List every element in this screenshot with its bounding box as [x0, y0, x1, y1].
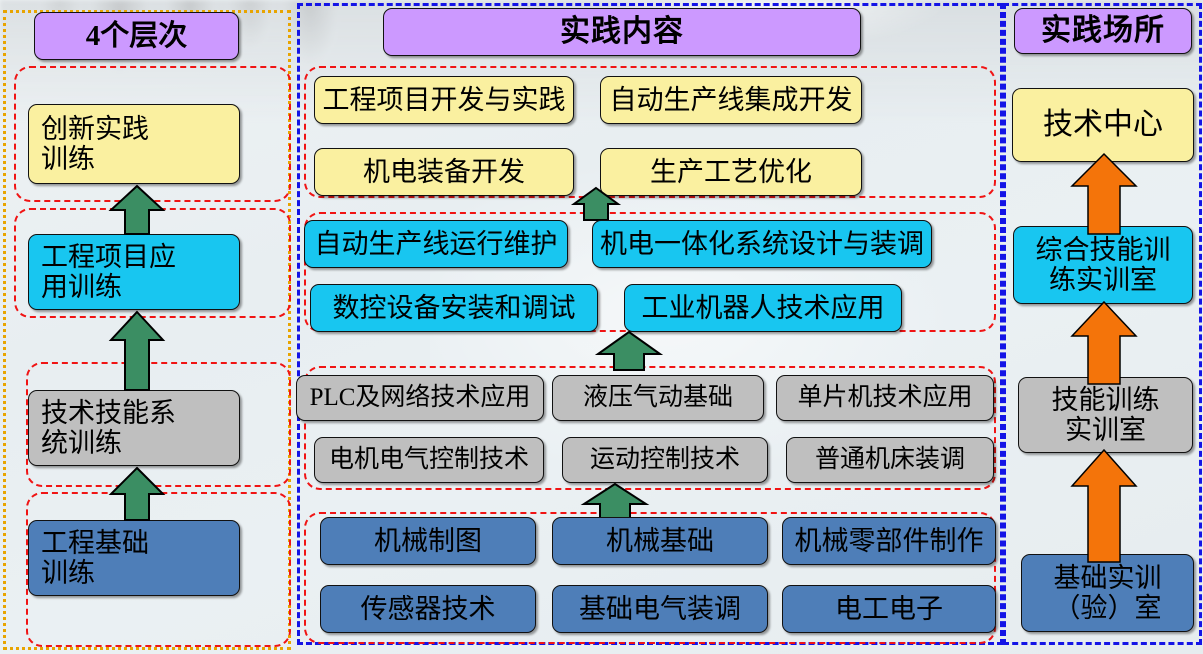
mid-item-yellow-3[interactable]: 机电装备开发	[314, 148, 574, 196]
mid-item-yellow-2[interactable]: 自动生产线集成开发	[600, 76, 862, 124]
mid-item-yellow-1[interactable]: 工程项目开发与实践	[314, 76, 574, 124]
venue-box-3[interactable]: 技能训练 实训室	[1018, 377, 1193, 453]
mid-item-gray-1[interactable]: PLC及网络技术应用	[296, 375, 544, 421]
right-panel-header: 实践场所	[1014, 8, 1192, 54]
venue-box-4[interactable]: 基础实训 （验）室	[1021, 554, 1194, 632]
mid-item-cyan-4[interactable]: 工业机器人技术应用	[624, 284, 902, 332]
mid-item-gray-3[interactable]: 单片机技术应用	[776, 375, 994, 421]
mid-item-blue-5[interactable]: 基础电气装调	[552, 585, 768, 633]
left-arrow-up-3	[107, 466, 167, 522]
mid-item-blue-2[interactable]: 机械基础	[552, 517, 768, 565]
mid-item-cyan-1[interactable]: 自动生产线运行维护	[304, 220, 568, 268]
left-arrow-up-2	[107, 310, 167, 392]
mid-item-gray-4[interactable]: 电机电气控制技术	[314, 437, 544, 483]
mid-item-cyan-2[interactable]: 机电一体化系统设计与装调	[592, 220, 932, 268]
level-box-1[interactable]: 创新实践 训练	[28, 104, 240, 184]
mid-item-blue-6[interactable]: 电工电子	[782, 585, 996, 633]
right-arrow-up-1	[1068, 152, 1140, 236]
mid-item-gray-6[interactable]: 普通机床装调	[786, 437, 994, 483]
diagram-canvas: 4个层次 创新实践 训练 工程项目应 用训练 技术技能系 统训练 工程基础 训练…	[0, 0, 1203, 654]
venue-box-2[interactable]: 综合技能训 练实训室	[1013, 226, 1193, 304]
right-arrow-up-2	[1068, 300, 1140, 386]
left-arrow-up-1	[107, 184, 167, 236]
mid-item-gray-2[interactable]: 液压气动基础	[552, 375, 764, 421]
level-box-3[interactable]: 技术技能系 统训练	[28, 390, 240, 466]
mid-item-blue-4[interactable]: 传感器技术	[320, 585, 536, 633]
left-panel-header: 4个层次	[34, 12, 239, 60]
mid-arrow-up-2	[594, 330, 664, 372]
right-arrow-up-3	[1068, 448, 1140, 564]
mid-panel-header: 实践内容	[383, 8, 861, 56]
mid-item-gray-5[interactable]: 运动控制技术	[562, 437, 768, 483]
mid-item-yellow-4[interactable]: 生产工艺优化	[600, 148, 862, 196]
level-box-2[interactable]: 工程项目应 用训练	[28, 234, 240, 310]
mid-arrow-up-3	[580, 482, 650, 522]
mid-item-blue-3[interactable]: 机械零部件制作	[782, 517, 996, 565]
mid-item-cyan-3[interactable]: 数控设备安装和调试	[310, 284, 598, 332]
venue-box-1[interactable]: 技术中心	[1012, 88, 1194, 162]
mid-item-blue-1[interactable]: 机械制图	[320, 517, 536, 565]
level-box-4[interactable]: 工程基础 训练	[28, 520, 240, 596]
mid-arrow-up-1	[570, 186, 622, 222]
